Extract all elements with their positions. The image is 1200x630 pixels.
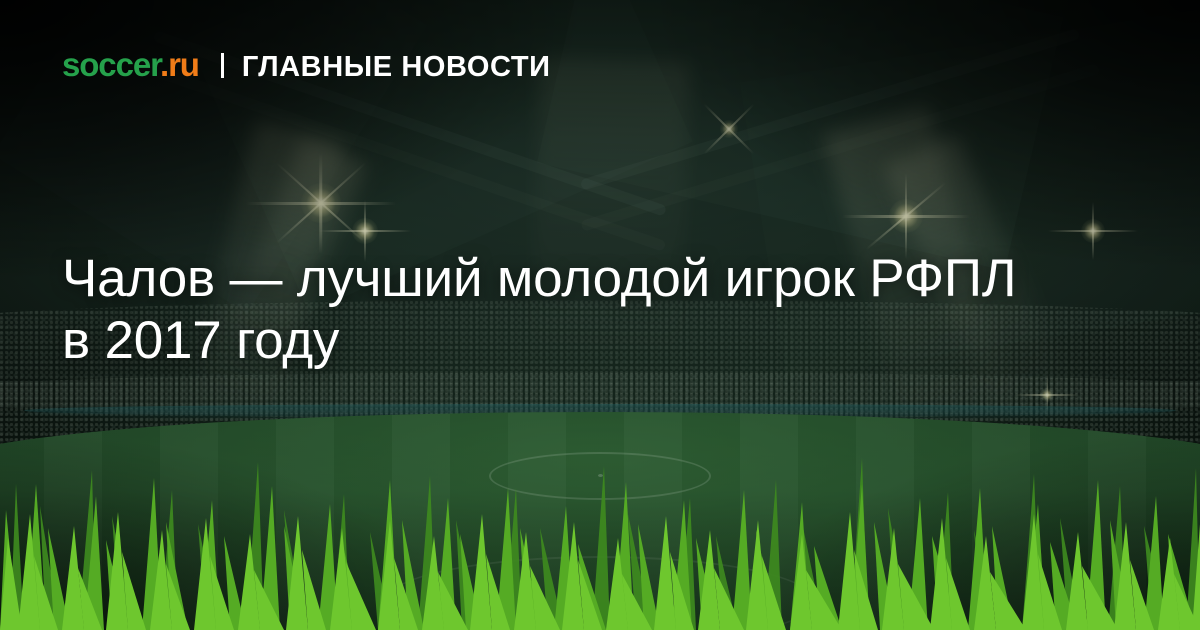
- logo-tld: .ru: [160, 46, 199, 83]
- grass-layer-near: [0, 510, 1200, 630]
- logo-word: soccer: [62, 46, 160, 83]
- header-separator: [221, 53, 224, 78]
- header-kicker: ГЛАВНЫЕ НОВОСТИ: [242, 53, 551, 82]
- news-share-card: soccer.ru ГЛАВНЫЕ НОВОСТИ Чалов — лучший…: [0, 0, 1200, 630]
- site-logo[interactable]: soccer.ru: [62, 48, 199, 81]
- page-title: Чалов — лучший молодой игрок РФПЛ в 2017…: [62, 248, 1022, 372]
- header: soccer.ru ГЛАВНЫЕ НОВОСТИ: [62, 48, 551, 82]
